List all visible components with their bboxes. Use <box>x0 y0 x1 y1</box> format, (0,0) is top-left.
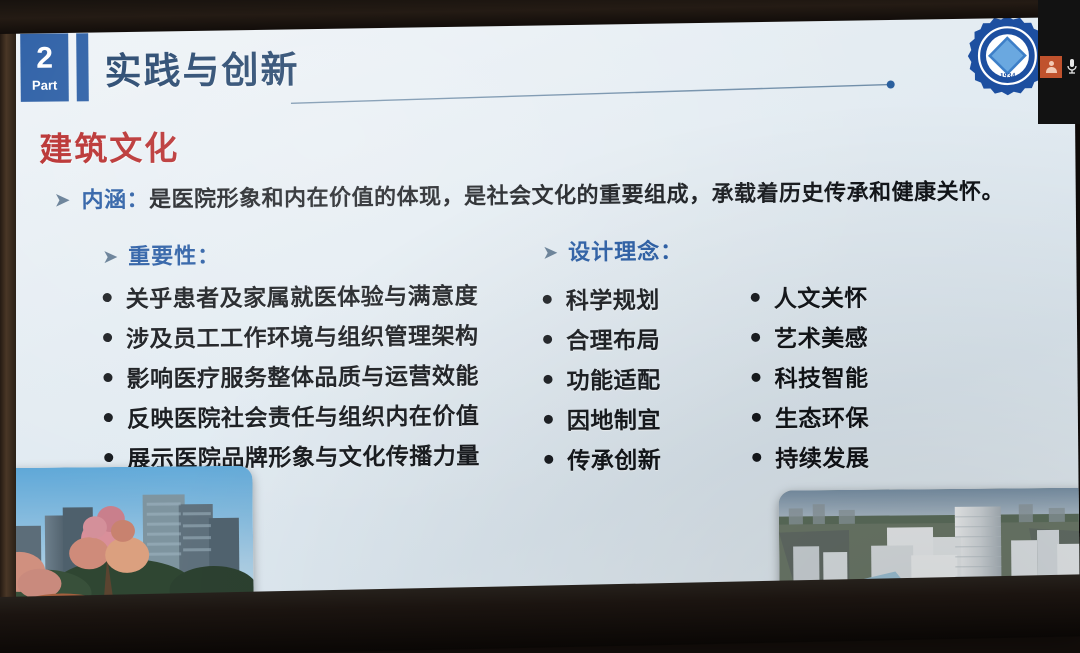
list-item: 传承创新 <box>544 440 724 476</box>
list-item: 生态环保 <box>752 398 932 434</box>
list-item-label: 传承创新 <box>567 441 661 476</box>
list-item-label: 科技智能 <box>774 359 868 394</box>
bullet-dot-icon <box>751 292 760 301</box>
participant-avatar-tile[interactable] <box>1040 56 1062 78</box>
list-item-label: 人文关怀 <box>774 279 868 314</box>
bullet-dot-icon <box>103 333 112 342</box>
bullet-dot-icon <box>752 452 761 461</box>
bullet-dot-icon <box>544 414 553 423</box>
list-item: 反映医院社会责任与组织内在价值 <box>104 396 504 434</box>
arrow-marker-icon: ➤ <box>102 246 118 269</box>
list-item: 影响医疗服务整体品质与运营效能 <box>103 356 503 394</box>
room-left-edge <box>0 0 16 653</box>
intro-bullet-row: ➤ 内涵： 是医院形象和内在价值的体现，是社会文化的重要组成，承载着历史传承和健… <box>54 173 1005 214</box>
bullet-dot-icon <box>752 412 761 421</box>
bullet-dot-icon <box>544 454 553 463</box>
bullet-dot-icon <box>543 294 552 303</box>
microphone-icon[interactable] <box>1066 58 1078 76</box>
right-column-subcolumn-left: 科学规划 合理布局 功能适配 因地制宜 <box>543 274 725 482</box>
list-item-label: 合理布局 <box>566 321 660 356</box>
left-column-heading: 重要性： <box>128 238 220 271</box>
bullet-dot-icon <box>104 413 113 422</box>
bullet-dot-icon <box>751 372 760 381</box>
header-decorative-line <box>291 77 897 85</box>
list-item-label: 持续发展 <box>775 439 869 474</box>
bullet-dot-icon <box>751 332 760 341</box>
bullet-dot-icon <box>104 453 113 462</box>
bullet-dot-icon <box>103 373 112 382</box>
bullet-dot-icon <box>543 374 552 383</box>
slide-header-title: 实践与创新 <box>104 39 300 95</box>
section-title: 建筑文化 <box>39 121 179 170</box>
list-item: 科技智能 <box>751 358 931 394</box>
person-avatar-icon <box>1045 61 1058 74</box>
list-item-label: 科学规划 <box>566 281 660 316</box>
part-accent-bar <box>76 33 89 101</box>
part-number: 2 <box>36 44 52 74</box>
right-column-subcolumn-right: 人文关怀 艺术美感 科技智能 生态环保 <box>751 272 933 480</box>
list-item-label: 影响医疗服务整体品质与运营效能 <box>126 356 479 393</box>
list-item: 持续发展 <box>752 438 932 474</box>
arrow-marker-icon: ➤ <box>542 242 558 265</box>
list-item: 涉及员工工作环境与组织管理架构 <box>103 316 503 354</box>
bullet-dot-icon <box>103 293 112 302</box>
right-column-heading-row: ➤ 设计理念： <box>542 231 962 267</box>
svg-text:1934: 1934 <box>1000 71 1016 80</box>
list-item-label: 反映医院社会责任与组织内在价值 <box>127 396 480 433</box>
part-word-label: Part <box>32 79 57 92</box>
list-item-label: 因地制宜 <box>567 401 661 436</box>
arrow-marker-icon: ➤ <box>54 187 71 212</box>
list-item: 合理布局 <box>543 320 723 356</box>
list-item: 因地制宜 <box>544 400 724 436</box>
list-item-label: 关乎患者及家属就医体验与满意度 <box>126 277 479 314</box>
screenshot-stage: 2 Part 实践与创新 建筑文化 ➤ 内涵： 是医院形象和内在价值的体现，是社… <box>0 0 1080 653</box>
list-item: 艺术美感 <box>751 318 931 354</box>
left-column: ➤ 重要性： 关乎患者及家属就医体验与满意度 涉及员工工作环境与组织管理架构 影… <box>102 235 504 480</box>
list-item-label: 艺术美感 <box>774 319 868 354</box>
intro-body-text: 是医院形象和内在价值的体现，是社会文化的重要组成，承载着历史传承和健康关怀。 <box>149 173 1004 213</box>
right-column-heading: 设计理念： <box>568 234 683 267</box>
list-item-label: 生态环保 <box>775 399 869 434</box>
intro-key-label: 内涵： <box>81 182 149 215</box>
right-column-subcolumns: 科学规划 合理布局 功能适配 因地制宜 <box>543 272 965 482</box>
bullet-dot-icon <box>543 334 552 343</box>
list-item-label: 涉及员工工作环境与组织管理架构 <box>126 316 479 353</box>
right-column: ➤ 设计理念： 科学规划 合理布局 功能适配 <box>542 231 964 482</box>
part-badge: 2 Part <box>20 33 69 101</box>
list-item: 功能适配 <box>543 360 723 396</box>
list-item-label: 功能适配 <box>566 361 660 396</box>
list-item: 科学规划 <box>543 280 723 316</box>
video-conference-strip[interactable] <box>1038 0 1080 124</box>
left-column-heading-row: ➤ 重要性： <box>102 235 502 271</box>
list-item: 人文关怀 <box>751 278 931 314</box>
presentation-slide: 2 Part 实践与创新 建筑文化 ➤ 内涵： 是医院形象和内在价值的体现，是社… <box>8 6 1080 646</box>
list-item: 关乎患者及家属就医体验与满意度 <box>103 276 503 314</box>
